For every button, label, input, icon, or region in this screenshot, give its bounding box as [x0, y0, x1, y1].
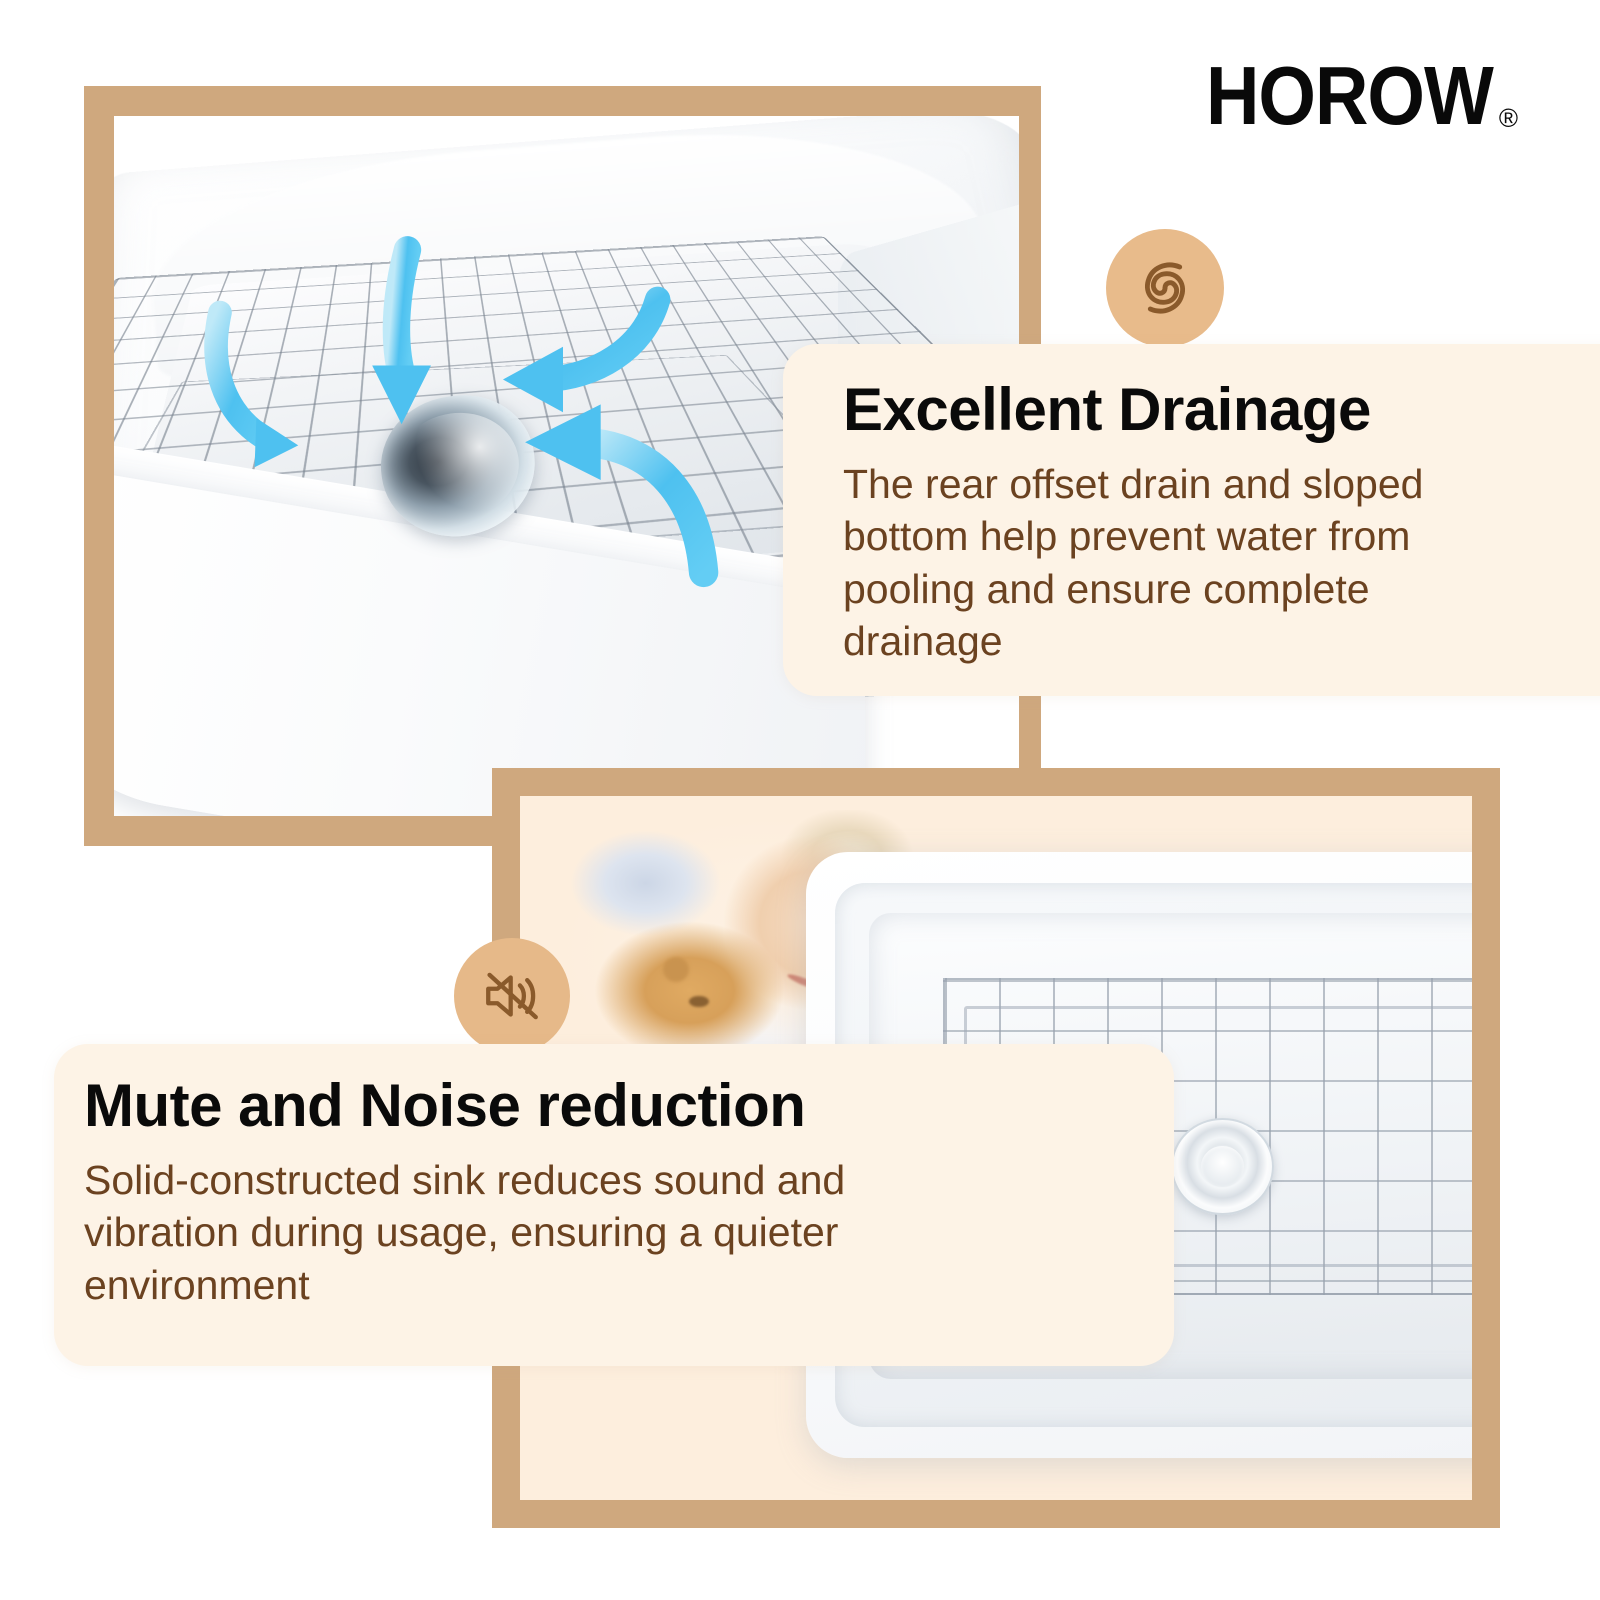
- drainage-text-card: Excellent Drainage The rear offset drain…: [783, 344, 1600, 696]
- mute-speaker-icon: [454, 938, 570, 1054]
- water-flow-arrow-right: [458, 396, 748, 606]
- teddy-bear-nose: [689, 996, 709, 1007]
- brand-logo-text: HOROW: [1206, 55, 1493, 138]
- drainage-description: The rear offset drain and sloped bottom …: [843, 458, 1533, 668]
- mute-title: Mute and Noise reduction: [84, 1074, 1134, 1138]
- brand-logo: HOROW ®: [1178, 48, 1518, 144]
- sink-drain-strainer: [1171, 1118, 1274, 1215]
- mute-text-card: Mute and Noise reduction Solid-construct…: [54, 1044, 1174, 1366]
- drain-swirl-icon: [1106, 229, 1224, 347]
- product-feature-poster: HOROW ®: [0, 0, 1600, 1600]
- mute-description: Solid-constructed sink reduces sound and…: [84, 1154, 884, 1311]
- teddy-bear-ear: [663, 957, 689, 982]
- drainage-title: Excellent Drainage: [843, 378, 1600, 442]
- registered-trademark-icon: ®: [1499, 103, 1518, 134]
